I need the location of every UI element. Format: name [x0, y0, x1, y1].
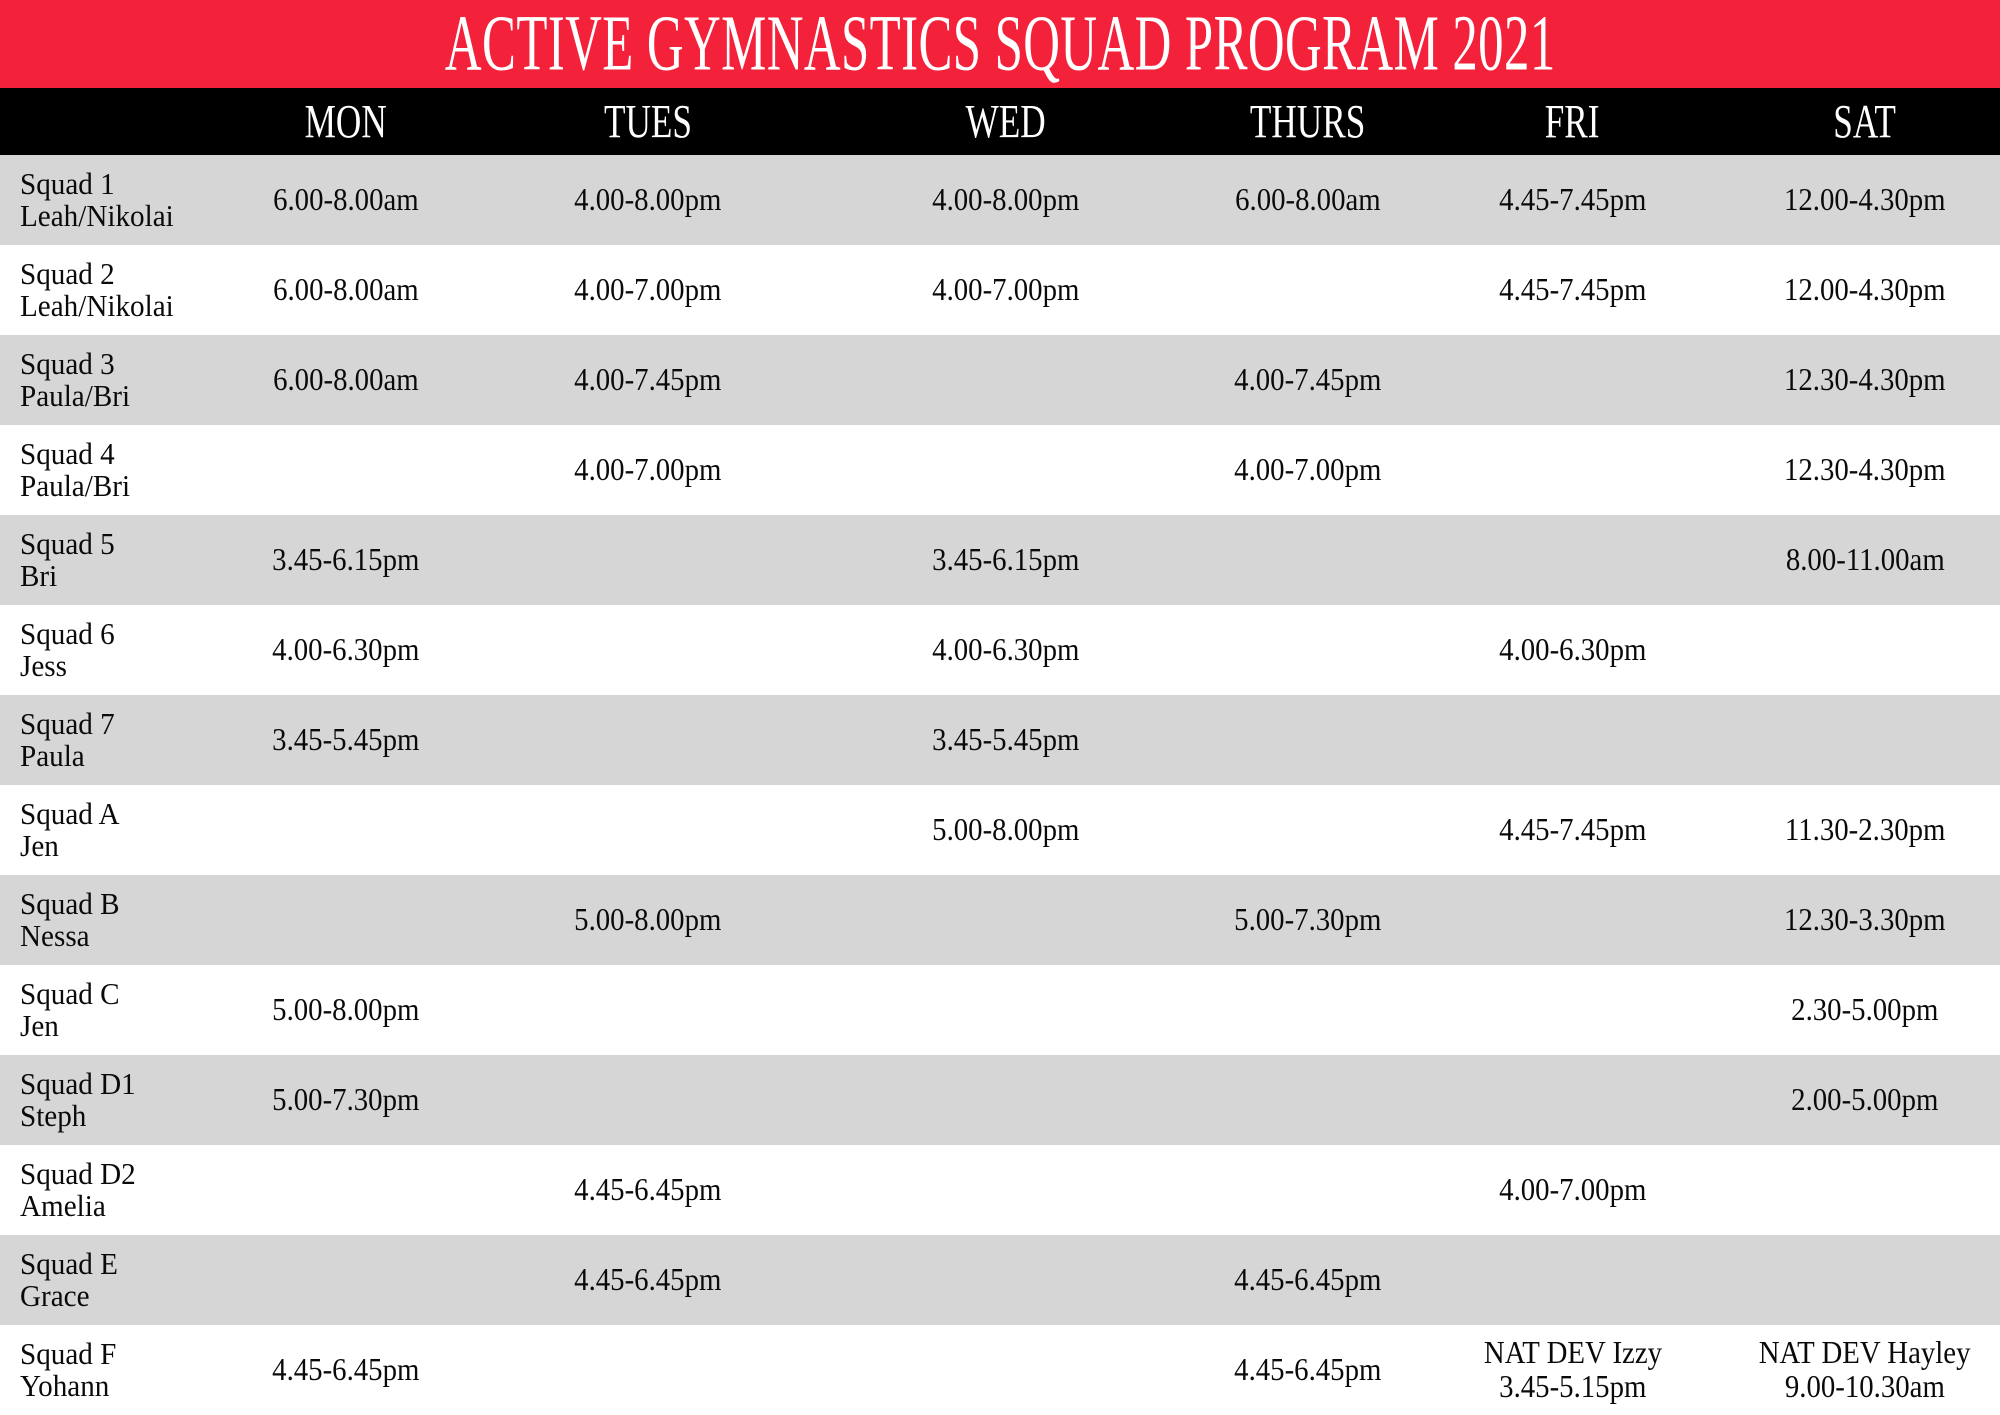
- cell-line-1: 6.00-8.00am: [273, 183, 419, 217]
- cell-line-1: 5.00-7.30pm: [1234, 903, 1381, 937]
- cell-line-1: 4.00-6.30pm: [272, 633, 419, 667]
- day-header-label: THURS: [1250, 98, 1365, 145]
- squad-name: Squad D1: [20, 1068, 136, 1100]
- table-row: Squad 4Paula/Bri4.00-7.00pm4.00-7.00pm12…: [0, 425, 2000, 515]
- cell-line-1: 4.00-6.30pm: [932, 633, 1079, 667]
- page-title: ACTIVE GYMNASTICS SQUAD PROGRAM 2021: [445, 4, 1556, 83]
- cell-line-2: 3.45-5.15pm: [1499, 1370, 1646, 1404]
- schedule-cell: 5.00-8.00pm: [530, 875, 765, 965]
- schedule-cell: 4.45-7.45pm: [1455, 245, 1690, 335]
- cell-line-1: 12.30-4.30pm: [1784, 363, 1946, 397]
- squad-name: Squad 6: [20, 618, 115, 650]
- squad-label: Squad EGrace: [20, 1235, 124, 1325]
- table-row: Squad D2Amelia4.45-6.45pm4.00-7.00pm: [0, 1145, 2000, 1235]
- schedule-cell: 4.45-7.45pm: [1455, 785, 1690, 875]
- cell-line-1: 6.00-8.00am: [273, 363, 419, 397]
- day-header-label: MON: [304, 98, 386, 145]
- cell-line-1: 5.00-8.00pm: [932, 813, 1079, 847]
- cell-line-1: 11.30-2.30pm: [1785, 813, 1946, 847]
- schedule-cell: 4.00-8.00pm: [888, 155, 1123, 245]
- squad-label: Squad 1Leah/Nikolai: [20, 155, 184, 245]
- cell-line-2: 9.00-10.30am: [1785, 1370, 1945, 1404]
- schedule-cell: 4.45-6.45pm: [1190, 1325, 1425, 1415]
- squad-coach: Leah/Nikolai: [20, 290, 174, 322]
- cell-line-1: 3.45-6.15pm: [272, 543, 419, 577]
- table-row: Squad 6Jess4.00-6.30pm4.00-6.30pm4.00-6.…: [0, 605, 2000, 695]
- squad-coach: Grace: [20, 1280, 118, 1312]
- schedule-cell: 4.00-7.00pm: [1190, 425, 1425, 515]
- schedule-cell: 11.30-2.30pm: [1740, 785, 1990, 875]
- squad-label: Squad 3Paula/Bri: [20, 335, 137, 425]
- day-header-thurs: THURS: [1190, 88, 1425, 155]
- cell-line-1: 4.00-8.00pm: [574, 183, 721, 217]
- schedule-cell: 4.00-7.00pm: [530, 425, 765, 515]
- schedule-cell: 8.00-11.00am: [1740, 515, 1990, 605]
- table-row: Squad 5Bri3.45-6.15pm3.45-6.15pm8.00-11.…: [0, 515, 2000, 605]
- schedule-cell: 4.00-8.00pm: [530, 155, 765, 245]
- squad-coach: Amelia: [20, 1190, 136, 1222]
- cell-line-1: 4.00-7.00pm: [574, 453, 721, 487]
- day-header-fri: FRI: [1455, 88, 1690, 155]
- squad-name: Squad B: [20, 888, 120, 920]
- cell-line-1: 4.45-6.45pm: [1234, 1353, 1381, 1387]
- squad-name: Squad D2: [20, 1158, 136, 1190]
- cell-line-1: 5.00-8.00pm: [574, 903, 721, 937]
- cell-line-1: 12.00-4.30pm: [1784, 273, 1946, 307]
- squad-label: Squad FYohann: [20, 1325, 123, 1415]
- schedule-cell: 4.45-6.45pm: [530, 1235, 765, 1325]
- schedule-cell: 4.45-6.45pm: [228, 1325, 463, 1415]
- cell-line-1: 5.00-7.30pm: [272, 1083, 419, 1117]
- squad-name: Squad C: [20, 978, 120, 1010]
- schedule-cell: 6.00-8.00am: [1190, 155, 1425, 245]
- cell-line-1: 12.30-4.30pm: [1784, 453, 1946, 487]
- title-banner: ACTIVE GYMNASTICS SQUAD PROGRAM 2021: [0, 0, 2000, 88]
- schedule-cell: 2.00-5.00pm: [1740, 1055, 1990, 1145]
- day-header-tues: TUES: [530, 88, 765, 155]
- squad-coach: Jen: [20, 830, 120, 862]
- schedule-cell: 4.00-7.00pm: [530, 245, 765, 335]
- schedule-cell: 6.00-8.00am: [228, 155, 463, 245]
- cell-line-1: 4.00-8.00pm: [932, 183, 1079, 217]
- cell-line-1: 4.45-7.45pm: [1499, 813, 1646, 847]
- squad-label: Squad CJen: [20, 965, 126, 1055]
- cell-line-1: 4.00-7.45pm: [1234, 363, 1381, 397]
- schedule-body: Squad 1Leah/Nikolai6.00-8.00am4.00-8.00p…: [0, 155, 2000, 1415]
- cell-line-1: 4.00-6.30pm: [1499, 633, 1646, 667]
- cell-line-1: 4.45-7.45pm: [1499, 183, 1646, 217]
- day-header-sat: SAT: [1740, 88, 1990, 155]
- squad-coach: Bri: [20, 560, 115, 592]
- table-row: Squad AJen5.00-8.00pm4.45-7.45pm11.30-2.…: [0, 785, 2000, 875]
- schedule-cell: 4.00-7.45pm: [530, 335, 765, 425]
- cell-line-1: 3.45-5.45pm: [932, 723, 1079, 757]
- table-row: Squad 3Paula/Bri6.00-8.00am4.00-7.45pm4.…: [0, 335, 2000, 425]
- schedule-cell: 3.45-6.15pm: [888, 515, 1123, 605]
- cell-line-1: 4.45-6.45pm: [574, 1173, 721, 1207]
- cell-line-1: 8.00-11.00am: [1786, 543, 1945, 577]
- cell-line-1: NAT DEV Hayley: [1759, 1336, 1971, 1370]
- schedule-cell: 4.45-6.45pm: [1190, 1235, 1425, 1325]
- squad-name: Squad 5: [20, 528, 115, 560]
- schedule-cell: 2.30-5.00pm: [1740, 965, 1990, 1055]
- table-row: Squad BNessa5.00-8.00pm5.00-7.30pm12.30-…: [0, 875, 2000, 965]
- schedule-cell: 3.45-5.45pm: [888, 695, 1123, 785]
- schedule-cell: 4.00-7.00pm: [1455, 1145, 1690, 1235]
- cell-line-1: NAT DEV Izzy: [1483, 1336, 1661, 1370]
- cell-line-1: 4.00-7.45pm: [574, 363, 721, 397]
- day-header-label: TUES: [604, 98, 692, 145]
- day-header-label: FRI: [1545, 98, 1600, 145]
- squad-name: Squad 3: [20, 348, 130, 380]
- schedule-cell: 4.45-6.45pm: [530, 1145, 765, 1235]
- schedule-cell: 12.00-4.30pm: [1740, 245, 1990, 335]
- schedule-cell: 6.00-8.00am: [228, 245, 463, 335]
- cell-line-1: 4.00-7.00pm: [574, 273, 721, 307]
- cell-line-1: 6.00-8.00am: [1235, 183, 1381, 217]
- squad-label: Squad D1Steph: [20, 1055, 143, 1145]
- table-row: Squad D1Steph5.00-7.30pm2.00-5.00pm: [0, 1055, 2000, 1145]
- cell-line-1: 4.00-7.00pm: [1234, 453, 1381, 487]
- squad-name: Squad 7: [20, 708, 115, 740]
- day-header-row: MONTUESWEDTHURSFRISAT: [0, 88, 2000, 155]
- table-row: Squad FYohann4.45-6.45pm4.45-6.45pmNAT D…: [0, 1325, 2000, 1415]
- cell-line-1: 6.00-8.00am: [273, 273, 419, 307]
- squad-label: Squad D2Amelia: [20, 1145, 143, 1235]
- schedule-cell: 4.00-6.30pm: [888, 605, 1123, 695]
- cell-line-1: 4.45-7.45pm: [1499, 273, 1646, 307]
- schedule-cell: 4.00-6.30pm: [1455, 605, 1690, 695]
- table-row: Squad CJen5.00-8.00pm2.30-5.00pm: [0, 965, 2000, 1055]
- schedule-cell: 4.00-7.00pm: [888, 245, 1123, 335]
- schedule-cell: 5.00-8.00pm: [228, 965, 463, 1055]
- squad-name: Squad F: [20, 1338, 116, 1370]
- squad-label: Squad 5Bri: [20, 515, 121, 605]
- schedule-cell: 5.00-7.30pm: [228, 1055, 463, 1145]
- squad-coach: Paula/Bri: [20, 470, 130, 502]
- cell-line-1: 4.45-6.45pm: [272, 1353, 419, 1387]
- squad-name: Squad 1: [20, 168, 174, 200]
- schedule-cell: NAT DEV Hayley9.00-10.30am: [1740, 1325, 1990, 1415]
- table-row: Squad 1Leah/Nikolai6.00-8.00am4.00-8.00p…: [0, 155, 2000, 245]
- cell-line-1: 3.45-5.45pm: [272, 723, 419, 757]
- cell-line-1: 12.00-4.30pm: [1784, 183, 1946, 217]
- schedule-cell: 6.00-8.00am: [228, 335, 463, 425]
- table-row: Squad 2Leah/Nikolai6.00-8.00am4.00-7.00p…: [0, 245, 2000, 335]
- schedule-cell: 12.30-4.30pm: [1740, 335, 1990, 425]
- day-header-mon: MON: [228, 88, 463, 155]
- table-row: Squad EGrace4.45-6.45pm4.45-6.45pm: [0, 1235, 2000, 1325]
- squad-label: Squad 4Paula/Bri: [20, 425, 137, 515]
- schedule-cell: 12.30-4.30pm: [1740, 425, 1990, 515]
- schedule-cell: 12.30-3.30pm: [1740, 875, 1990, 965]
- squad-name: Squad 2: [20, 258, 174, 290]
- cell-line-1: 2.30-5.00pm: [1791, 993, 1938, 1027]
- squad-coach: Jess: [20, 650, 115, 682]
- table-row: Squad 7Paula3.45-5.45pm3.45-5.45pm: [0, 695, 2000, 785]
- cell-line-1: 4.45-6.45pm: [574, 1263, 721, 1297]
- day-header-wed: WED: [888, 88, 1123, 155]
- squad-label: Squad BNessa: [20, 875, 126, 965]
- squad-name: Squad 4: [20, 438, 130, 470]
- squad-name: Squad A: [20, 798, 120, 830]
- schedule-cell: 4.00-7.45pm: [1190, 335, 1425, 425]
- cell-line-1: 4.00-7.00pm: [1499, 1173, 1646, 1207]
- squad-label: Squad 2Leah/Nikolai: [20, 245, 184, 335]
- cell-line-1: 5.00-8.00pm: [272, 993, 419, 1027]
- day-header-label: SAT: [1834, 98, 1897, 145]
- squad-label: Squad 6Jess: [20, 605, 121, 695]
- schedule-page: ACTIVE GYMNASTICS SQUAD PROGRAM 2021 MON…: [0, 0, 2000, 1414]
- squad-coach: Paula/Bri: [20, 380, 130, 412]
- day-header-label: WED: [965, 98, 1045, 145]
- squad-label: Squad 7Paula: [20, 695, 121, 785]
- schedule-cell: 3.45-5.45pm: [228, 695, 463, 785]
- schedule-cell: 3.45-6.15pm: [228, 515, 463, 605]
- schedule-cell: 4.45-7.45pm: [1455, 155, 1690, 245]
- schedule-cell: NAT DEV Izzy3.45-5.15pm: [1455, 1325, 1690, 1415]
- squad-coach: Jen: [20, 1010, 120, 1042]
- schedule-cell: 5.00-7.30pm: [1190, 875, 1425, 965]
- squad-coach: Leah/Nikolai: [20, 200, 174, 232]
- cell-line-1: 4.45-6.45pm: [1234, 1263, 1381, 1297]
- schedule-cell: 12.00-4.30pm: [1740, 155, 1990, 245]
- schedule-cell: 5.00-8.00pm: [888, 785, 1123, 875]
- squad-coach: Nessa: [20, 920, 120, 952]
- squad-coach: Steph: [20, 1100, 136, 1132]
- cell-line-1: 4.00-7.00pm: [932, 273, 1079, 307]
- squad-coach: Paula: [20, 740, 115, 772]
- cell-line-1: 12.30-3.30pm: [1784, 903, 1946, 937]
- squad-label: Squad AJen: [20, 785, 126, 875]
- squad-name: Squad E: [20, 1248, 118, 1280]
- schedule-cell: 4.00-6.30pm: [228, 605, 463, 695]
- cell-line-1: 2.00-5.00pm: [1791, 1083, 1938, 1117]
- cell-line-1: 3.45-6.15pm: [932, 543, 1079, 577]
- squad-coach: Yohann: [20, 1370, 116, 1402]
